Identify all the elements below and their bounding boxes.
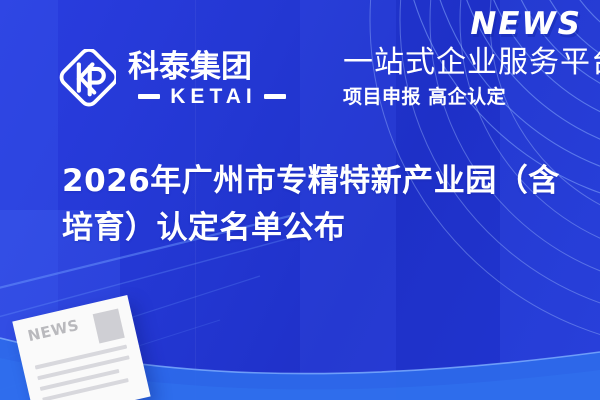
logo-dash-right-icon bbox=[264, 94, 286, 99]
brand-logo-text: 科泰集团 KETAI bbox=[128, 49, 296, 107]
tagline-sub: 项目申报 高企认定 bbox=[343, 86, 600, 109]
brand-name-en-row: KETAI bbox=[128, 86, 296, 107]
brand-name-cn-icon: 科泰集团 bbox=[128, 49, 296, 83]
tagline-block: 一站式企业服务平台 项目申报 高企认定 bbox=[343, 47, 600, 109]
brand-name-cn: 科泰集团 bbox=[128, 49, 252, 83]
tagline-main: 一站式企业服务平台 bbox=[343, 47, 600, 79]
brand-name-en: KETAI bbox=[170, 86, 256, 107]
newspaper-text-line bbox=[42, 378, 129, 400]
logo-dash-left-icon bbox=[138, 94, 160, 99]
newspaper-thumbnail bbox=[93, 308, 125, 343]
news-banner: 科泰集团 KETAI 一站式企业服务平台 项目申报 高企认定 NEWS 2026… bbox=[0, 0, 600, 400]
page-title: 2026年广州市专精特新产业园（含培育）认定名单公布 bbox=[62, 158, 567, 252]
newspaper-masthead: NEWS bbox=[26, 318, 80, 344]
banner-header: 科泰集团 KETAI 一站式企业服务平台 项目申报 高企认定 bbox=[0, 36, 600, 120]
ketai-diamond-kp-logo-icon bbox=[58, 49, 116, 107]
news-wordmark: NEWS bbox=[470, 6, 582, 42]
brand-logo[interactable]: 科泰集团 KETAI bbox=[58, 49, 296, 107]
